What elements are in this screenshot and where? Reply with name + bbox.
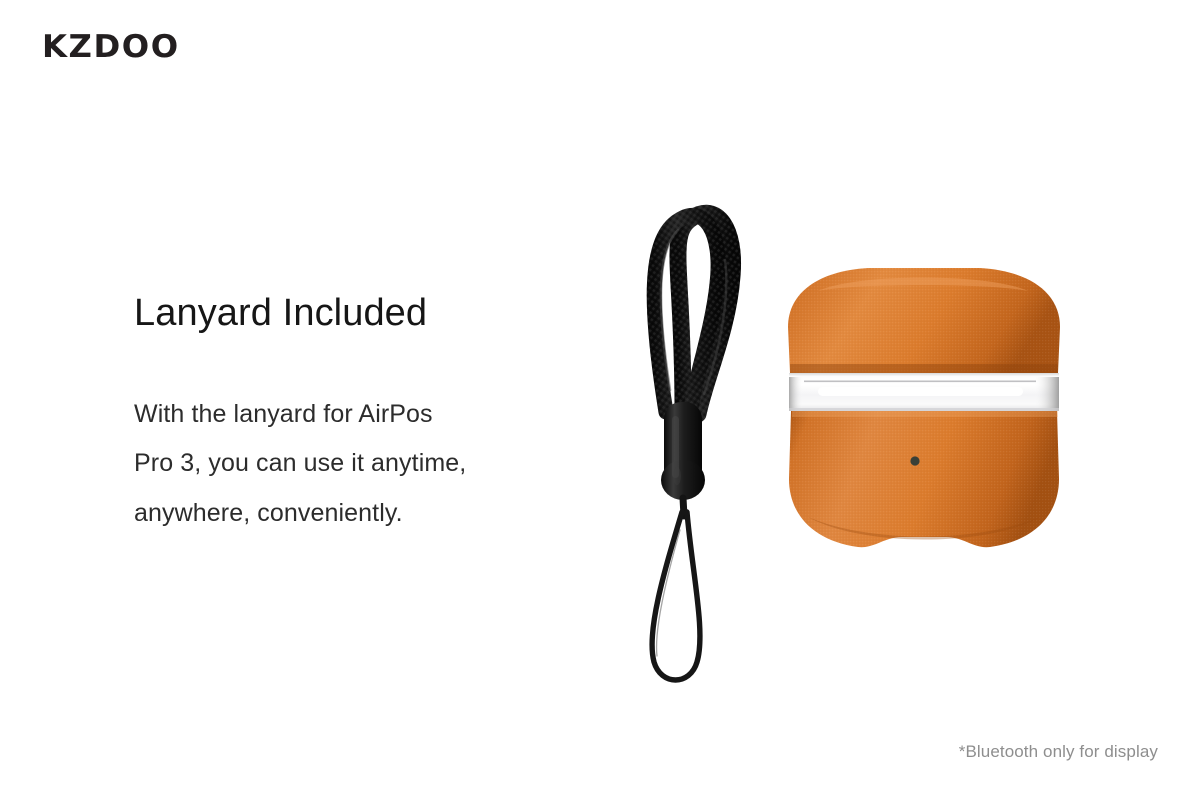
case-hinge-band: [789, 373, 1059, 411]
body-line: anywhere, conveniently.: [134, 489, 534, 539]
product-feature-slide: KZDOO Lanyard Included With the lanyard …: [0, 0, 1200, 800]
case-body: [789, 411, 1059, 547]
lanyard-image: [620, 180, 800, 690]
product-stage: [600, 150, 1120, 710]
body-line: Pro 3, you can use it anytime,: [134, 439, 534, 489]
lanyard-lower-loop: [652, 512, 700, 680]
body-paragraph: With the lanyard for AirPos Pro 3, you c…: [134, 336, 534, 539]
body-line: With the lanyard for AirPos: [134, 390, 534, 440]
case-lid: [788, 268, 1060, 373]
disclaimer-footnote: *Bluetooth only for display: [959, 742, 1158, 762]
status-led-icon: [910, 456, 919, 465]
lanyard-upper-loop: [654, 213, 732, 416]
copy-block: Lanyard Included With the lanyard for Ai…: [134, 292, 574, 538]
page-title: Lanyard Included: [134, 292, 574, 336]
lanyard-slider-bead: [661, 402, 705, 500]
brand-logo: KZDOO: [42, 32, 180, 63]
airpods-case-image: [778, 265, 1070, 555]
